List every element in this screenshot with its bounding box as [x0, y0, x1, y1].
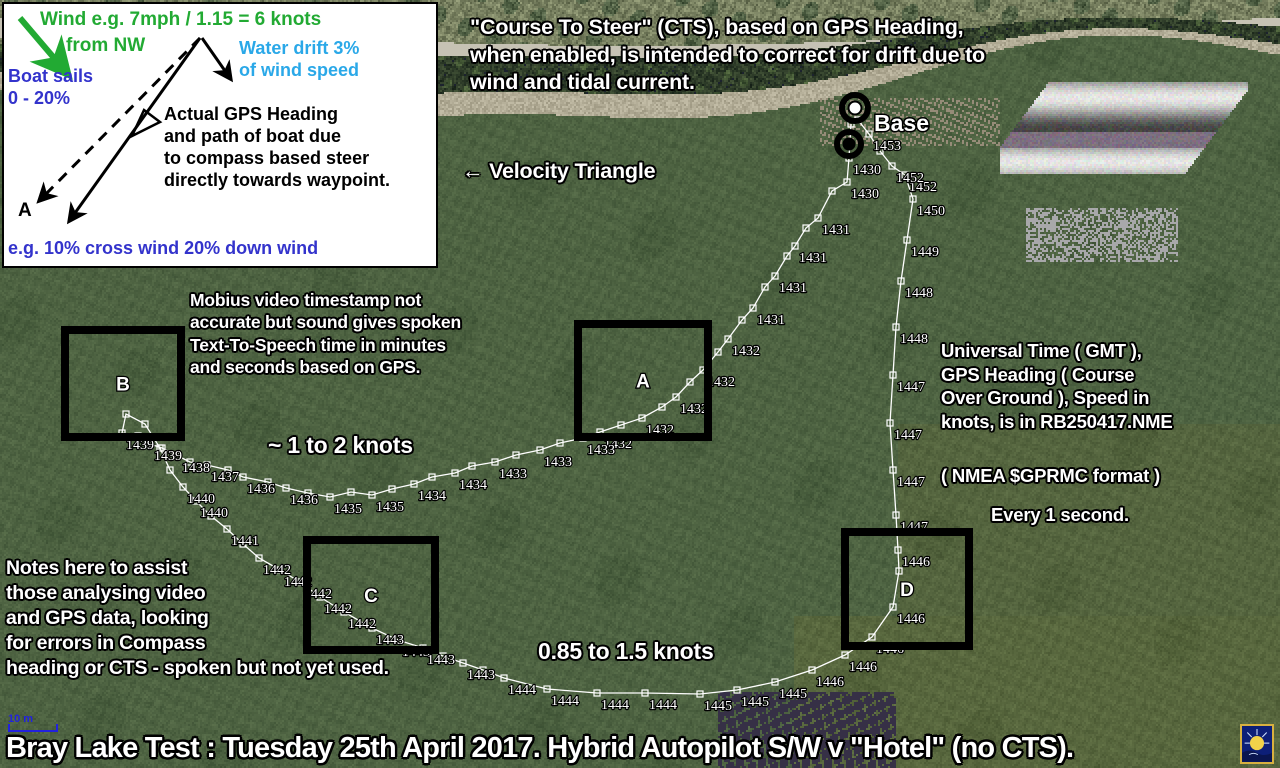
waypoint-time-label: 1446	[849, 660, 877, 675]
logo-graphic	[1242, 726, 1272, 762]
base-marker-outer-core	[849, 102, 862, 115]
waypoint-time-label: 1445	[741, 695, 769, 710]
waypoint-time-label: 1444	[508, 683, 536, 698]
waypoint-time-label: 1432	[680, 402, 708, 417]
map-scale-bar: 10 m	[8, 713, 58, 732]
analysis-notes: Notes here to assist those analysing vid…	[6, 556, 389, 681]
waypoint-time-label: 1433	[499, 467, 527, 482]
mobius-timestamp-note: Mobius video timestamp not accurate but …	[190, 289, 461, 379]
waypoint-time-label: 1431	[822, 223, 850, 238]
base-marker-inner-core	[844, 139, 855, 150]
waypoint-time-label: 1447	[897, 475, 925, 490]
waypoint-time-label: 1452	[896, 171, 924, 186]
waypoint-time-label: 1430	[851, 187, 879, 202]
page-title: Bray Lake Test : Tuesday 25th April 2017…	[6, 732, 1073, 765]
waypoint-time-label: 1435	[376, 500, 404, 515]
waypoint-time-label: 1435	[334, 502, 362, 517]
waypoint-time-label: 1436	[247, 482, 275, 497]
waypoint-time-label: 1448	[900, 332, 928, 347]
water-drift-label: Water drift 3% of wind speed	[239, 38, 359, 82]
speed-upper-note: ~ 1 to 2 knots	[268, 431, 413, 460]
zone-box-label-d: D	[900, 580, 914, 601]
velocity-triangle-pointer-note: ← Velocity Triangle	[462, 158, 655, 186]
waypoint-time-label: 1446	[902, 555, 930, 570]
waypoint-time-label: 1438	[182, 461, 210, 476]
waypoint-time-label: 1432	[732, 344, 760, 359]
zone-box-label-a: A	[636, 372, 650, 393]
waypoint-time-label: 1447	[897, 380, 925, 395]
waypoint-time-label: 1433	[544, 455, 572, 470]
zone-box-label-b: B	[116, 375, 130, 396]
waypoint-time-label: 1437	[211, 470, 239, 485]
annotated-map-screenshot: 1430143014311431143114311432143214321432…	[0, 0, 1280, 768]
scale-bar-graphic	[8, 724, 58, 732]
cts-explanation-note: "Course To Steer" (CTS), based on GPS He…	[470, 14, 985, 97]
waypoint-time-label: 1453	[873, 139, 901, 154]
waypoint-time-label: 1447	[894, 428, 922, 443]
waypoint-time-label: 1431	[757, 313, 785, 328]
waypoint-time-label: 1441	[231, 534, 259, 549]
waypoint-time-label: 1436	[290, 493, 318, 508]
base-label: Base	[874, 110, 929, 136]
waypoint-time-label: 1439	[154, 449, 182, 464]
waypoint-time-label: 1443	[467, 668, 495, 683]
nmea-rate-note: Every 1 second.	[991, 503, 1129, 527]
waypoint-time-label: 1434	[459, 478, 487, 493]
waypoint-time-label: 1445	[704, 699, 732, 714]
wind-direction-label: from NW	[66, 34, 145, 57]
waypoint-time-label: 1440	[200, 506, 228, 521]
actual-gps-heading-label: Actual GPS Heading and path of boat due …	[164, 104, 390, 192]
waypoint-time-label: 1434	[418, 489, 446, 504]
waypoint-time-label: 1444	[551, 694, 579, 709]
waypoint-time-label: 1431	[779, 281, 807, 296]
waypoint-time-label: 1431	[799, 251, 827, 266]
waypoint-time-label: 1446	[897, 612, 925, 627]
wind-speed-label: Wind e.g. 7mph / 1.15 = 6 knots	[40, 8, 321, 31]
point-a-label: A	[18, 199, 32, 222]
nmea-source-note: Universal Time ( GMT ), GPS Heading ( Co…	[941, 339, 1172, 434]
cross-wind-footer-label: e.g. 10% cross wind 20% down wind	[8, 238, 318, 260]
boat-sails-label: Boat sails 0 - 20%	[8, 66, 93, 110]
nmea-format-note: ( NMEA $GPRMC format )	[941, 464, 1160, 488]
water-drift-vector	[202, 38, 230, 78]
waypoint-time-label: 1449	[911, 245, 939, 260]
waypoint-time-label: 1433	[587, 443, 615, 458]
waypoint-time-label: 1444	[649, 698, 677, 713]
velocity-triangle-panel: Wind e.g. 7mph / 1.15 = 6 knots from NW …	[2, 2, 438, 268]
waypoint-time-label: 1444	[601, 698, 629, 713]
waypoint-time-label: 1445	[779, 687, 807, 702]
waypoint-time-label: 1446	[816, 675, 844, 690]
waypoint-time-label: 1430	[853, 163, 881, 178]
sun-over-water-logo	[1240, 724, 1274, 764]
speed-lower-note: 0.85 to 1.5 knots	[538, 637, 714, 666]
scale-bar-label: 10 m	[8, 713, 33, 725]
waypoint-time-label: 1450	[917, 204, 945, 219]
waypoint-time-label: 1443	[427, 653, 455, 668]
waypoint-time-label: 1440	[187, 492, 215, 507]
bottom-title-bar: 10 m Bray Lake Test : Tuesday 25th April…	[0, 718, 1280, 768]
waypoint-time-label: 1448	[905, 286, 933, 301]
